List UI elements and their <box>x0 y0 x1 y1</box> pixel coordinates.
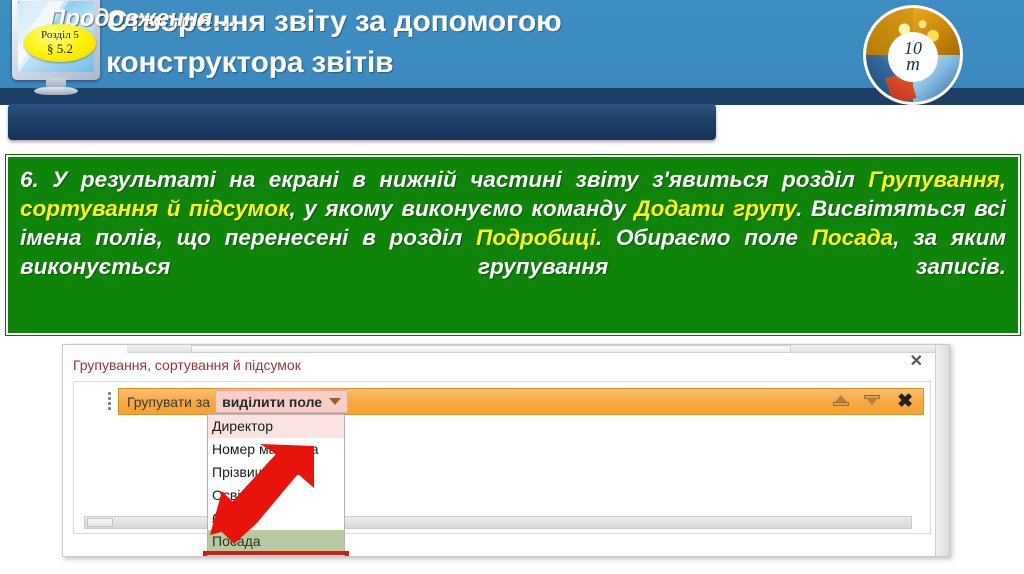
logo-center-disc: 10 m <box>888 32 938 82</box>
delete-icon[interactable]: ✖ <box>897 392 913 411</box>
content-text-run: , у якому виконуємо команду <box>289 196 634 221</box>
move-up-icon[interactable] <box>833 394 850 409</box>
move-down-icon[interactable] <box>864 394 881 409</box>
field-dropdown-list[interactable]: ДиректорНомер магазинаПрізвищеОсвітаСтаж… <box>207 414 345 554</box>
content-callout: 6. У результаті на екрані в нижній части… <box>6 155 1020 335</box>
chapter-badge: Розділ 5 § 5.2 <box>24 24 96 62</box>
dropdown-item[interactable]: Посада <box>208 530 344 553</box>
page-title-line2: конструктора звітів <box>106 42 866 83</box>
chevron-down-icon[interactable] <box>329 398 341 405</box>
continuation-bar <box>8 104 716 140</box>
content-text-run: . Обираємо поле <box>596 225 812 250</box>
content-highlight-term: Посада <box>812 225 893 250</box>
monitor-base <box>34 87 78 95</box>
content-highlight-term: Подробиці <box>476 225 596 250</box>
chapter-badge-line2: § 5.2 <box>47 42 73 56</box>
content-highlight-term: Додати групу <box>634 196 796 221</box>
logo-text-bottom: m <box>906 56 920 73</box>
dialog-right-scrollbar[interactable] <box>935 345 949 557</box>
group-row: Групувати за виділити поле ✖ <box>118 388 924 415</box>
dropdown-item[interactable]: Освіта <box>208 484 344 507</box>
field-select-value: виділити поле <box>222 394 322 410</box>
dialog-title: Групування, сортування й підсумок <box>73 357 301 373</box>
slide-root: Створення звіту за допомогою конструктор… <box>0 0 1024 574</box>
close-icon[interactable]: ✕ <box>910 354 923 370</box>
access-dialog-screenshot: Групування, сортування й підсумок ✕ Груп… <box>62 344 950 557</box>
dropdown-item[interactable]: Номер магазина <box>208 438 344 461</box>
group-row-actions: ✖ <box>833 392 923 411</box>
dialog-body: Групувати за виділити поле ✖ ДиректорНом… <box>73 381 931 534</box>
dropdown-item[interactable]: Директор <box>208 415 344 438</box>
brand-logo-icon: 10 m <box>866 8 960 102</box>
field-select-combo[interactable]: виділити поле <box>215 390 348 413</box>
dialog-top-scrollbar[interactable] <box>127 345 950 353</box>
group-row-label: Групувати за <box>119 394 215 410</box>
dialog-bottom-scrollbar-thumb[interactable] <box>87 518 113 527</box>
content-paragraph: 6. У результаті на екрані в нижній части… <box>20 165 1006 281</box>
dropdown-item[interactable]: Стаж <box>208 507 344 530</box>
drag-handle-icon[interactable] <box>106 390 113 412</box>
content-text-run: 6. У результаті на екрані в нижній части… <box>20 167 868 192</box>
dropdown-item[interactable]: Прізвище <box>208 461 344 484</box>
dialog-top-scrollbar-thumb[interactable] <box>191 345 791 353</box>
